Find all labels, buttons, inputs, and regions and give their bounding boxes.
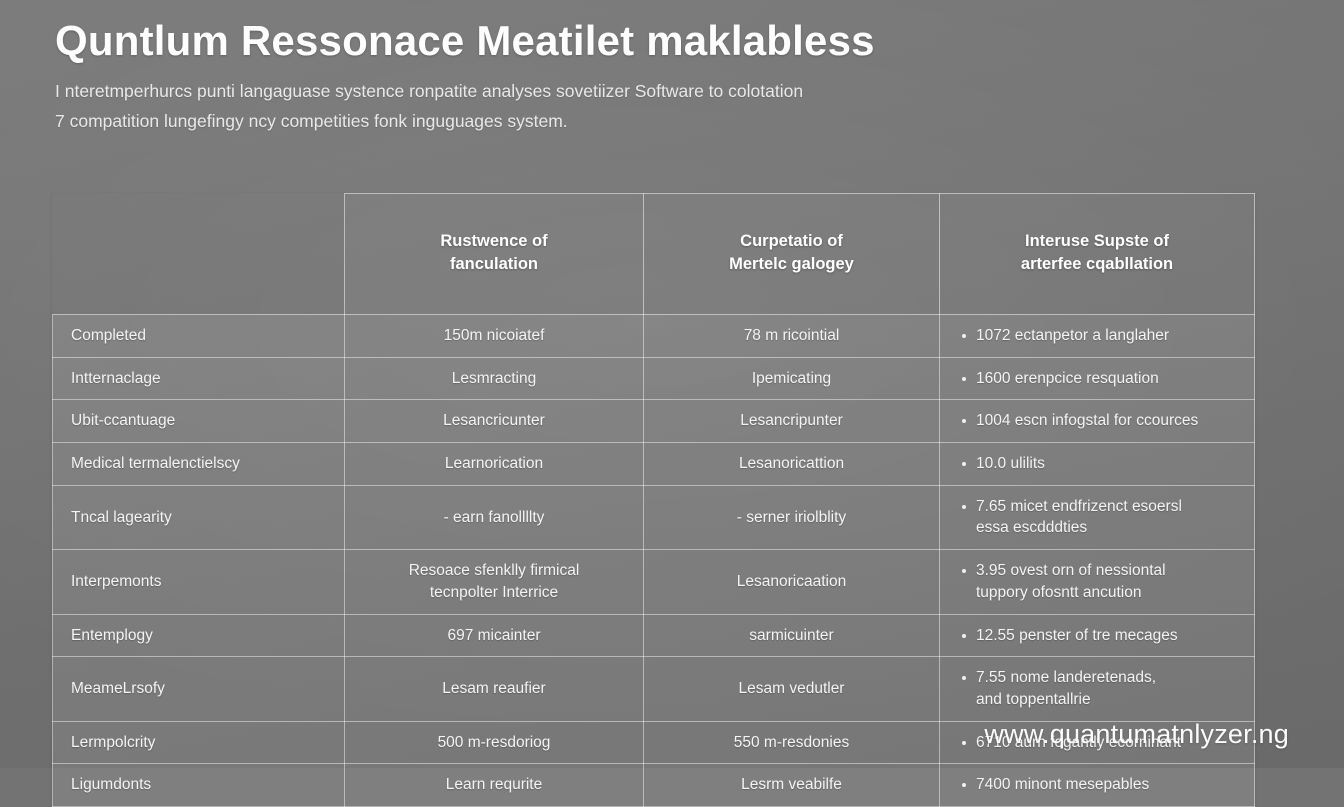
table-row: Completed150m nicoiatef78 m ricointial10… <box>53 315 1255 358</box>
row-value-cell-1: 150m nicoiatef <box>345 315 644 358</box>
table-head: Rustwence of fanculation Curpetatio of M… <box>53 194 1255 315</box>
table-header-col-1: Rustwence of fanculation <box>345 194 644 315</box>
row-label-cell: Ligumdonts <box>53 764 345 807</box>
row-bullet-cell: 1600 erenpcice resquation <box>940 357 1255 400</box>
cell-line: Learnorication <box>359 453 629 475</box>
cell-line: - serner iriolblity <box>658 507 925 529</box>
bullet-dot-icon <box>962 377 966 381</box>
bullet-dot-icon <box>962 462 966 466</box>
cell-line: 7400 minont mesepables <box>976 774 1240 796</box>
bullet-item: 12.55 penster of tre mecages <box>962 625 1240 647</box>
page-subtitle: I nteretmperhurcs punti langaguase syste… <box>55 76 1065 136</box>
cell-line: and toppentallrie <box>976 689 1240 711</box>
bullet-dot-icon <box>962 634 966 638</box>
row-label-cell: MeameLrsofy <box>53 657 345 721</box>
row-bullet-cell: 10.0 ulilits <box>940 443 1255 486</box>
subtitle-line-2: 7 compatition lungefingy ncy competities… <box>55 106 1065 136</box>
table-header-col-3-line-2: arterfee cqabllation <box>954 253 1240 276</box>
table-header-col-1-line-1: Rustwence of <box>359 230 629 253</box>
bullet-text: 1072 ectanpetor a langlaher <box>976 325 1240 347</box>
row-label-cell: Interpemonts <box>53 550 345 614</box>
bullet-dot-icon <box>962 569 966 573</box>
table-row: MeameLrsofyLesam reaufierLesam vedutler7… <box>53 657 1255 721</box>
header-block: Quntlum Ressonace Meatilet maklabless I … <box>55 16 1245 136</box>
cell-line: 697 micainter <box>359 625 629 647</box>
bullet-text: 7400 minont mesepables <box>976 774 1240 796</box>
row-value-cell-1: - earn fanollllty <box>345 485 644 549</box>
comparison-table: Rustwence of fanculation Curpetatio of M… <box>52 193 1255 807</box>
table-row: LigumdontsLearn requriteLesrm veabilfe74… <box>53 764 1255 807</box>
bullet-item: 3.95 ovest orn of nessiontaltuppory ofos… <box>962 560 1240 603</box>
bullet-item: 7400 minont mesepables <box>962 774 1240 796</box>
subtitle-line-1: I nteretmperhurcs punti langaguase syste… <box>55 76 1065 106</box>
row-value-cell-2: sarmicuinter <box>644 614 940 657</box>
row-label-cell: Ubit-ccantuage <box>53 400 345 443</box>
cell-line: tecnpolter Interrice <box>359 582 629 604</box>
cell-line: Lesanoricattion <box>658 453 925 475</box>
cell-line: Lesanoricaation <box>658 571 925 593</box>
table-row: Ubit-ccantuageLesancricunterLesancripunt… <box>53 400 1255 443</box>
cell-line: 12.55 penster of tre mecages <box>976 625 1240 647</box>
cell-line: tuppory ofosntt ancution <box>976 582 1240 604</box>
bullet-text: 7.55 nome landeretenads,and toppentallri… <box>976 667 1240 710</box>
slide-root: Quntlum Ressonace Meatilet maklabless I … <box>0 0 1344 768</box>
bullet-item: 7.65 micet endfrizenct esoerslessa escdd… <box>962 496 1240 539</box>
row-label-cell: Entemplogy <box>53 614 345 657</box>
row-value-cell-2: 78 m ricointial <box>644 315 940 358</box>
cell-line: 78 m ricointial <box>658 325 925 347</box>
row-value-cell-1: 500 m-resdoriog <box>345 721 644 764</box>
cell-line: 550 m-resdonies <box>658 732 925 754</box>
table-row: Entemplogy697 micaintersarmicuinter12.55… <box>53 614 1255 657</box>
table-row: IntternaclageLesmractingIpemicating1600 … <box>53 357 1255 400</box>
comparison-table-wrap: Rustwence of fanculation Curpetatio of M… <box>52 193 1254 807</box>
bullet-dot-icon <box>962 783 966 787</box>
cell-line: 10.0 ulilits <box>976 453 1240 475</box>
cell-line: 7.55 nome landeretenads, <box>976 667 1240 689</box>
row-value-cell-2: Lesanoricattion <box>644 443 940 486</box>
cell-line: - earn fanollllty <box>359 507 629 529</box>
bullet-dot-icon <box>962 505 966 509</box>
cell-line: Lesrm veabilfe <box>658 774 925 796</box>
cell-line: Ipemicating <box>658 368 925 390</box>
table-header-col-1-line-2: fanculation <box>359 253 629 276</box>
table-header-corner <box>53 194 345 315</box>
row-value-cell-1: Learnorication <box>345 443 644 486</box>
row-label-cell: Lermpolcrity <box>53 721 345 764</box>
row-value-cell-2: - serner iriolblity <box>644 485 940 549</box>
bullet-item: 1004 escn infogstal for ccources <box>962 410 1240 432</box>
row-label-cell: Completed <box>53 315 345 358</box>
cell-line: Resoace sfenklly firmical <box>359 560 629 582</box>
bullet-text: 10.0 ulilits <box>976 453 1240 475</box>
row-value-cell-1: Resoace sfenklly firmicaltecnpolter Inte… <box>345 550 644 614</box>
row-value-cell-1: Learn requrite <box>345 764 644 807</box>
row-bullet-cell: 7.55 nome landeretenads,and toppentallri… <box>940 657 1255 721</box>
bullet-dot-icon <box>962 676 966 680</box>
bullet-item: 7.55 nome landeretenads,and toppentallri… <box>962 667 1240 710</box>
row-value-cell-1: 697 micainter <box>345 614 644 657</box>
table-header-col-3-line-1: Interuse Supste of <box>954 230 1240 253</box>
cell-line: 3.95 ovest orn of nessiontal <box>976 560 1240 582</box>
cell-line: Learn requrite <box>359 774 629 796</box>
bullet-text: 1600 erenpcice resquation <box>976 368 1240 390</box>
bullet-text: 12.55 penster of tre mecages <box>976 625 1240 647</box>
bullet-text: 7.65 micet endfrizenct esoerslessa escdd… <box>976 496 1240 539</box>
row-value-cell-2: Lesanoricaation <box>644 550 940 614</box>
page-title: Quntlum Ressonace Meatilet maklabless <box>55 16 1245 66</box>
row-label-cell: Tncal lagearity <box>53 485 345 549</box>
row-value-cell-2: Lesrm veabilfe <box>644 764 940 807</box>
table-header-col-2: Curpetatio of Mertelc galogey <box>644 194 940 315</box>
table-header-row: Rustwence of fanculation Curpetatio of M… <box>53 194 1255 315</box>
row-bullet-cell: 7400 minont mesepables <box>940 764 1255 807</box>
cell-line: essa escdddties <box>976 517 1240 539</box>
bullet-item: 1600 erenpcice resquation <box>962 368 1240 390</box>
row-bullet-cell: 7.65 micet endfrizenct esoerslessa escdd… <box>940 485 1255 549</box>
table-row: Medical termalenctielscyLearnoricationLe… <box>53 443 1255 486</box>
bullet-item: 1072 ectanpetor a langlaher <box>962 325 1240 347</box>
cell-line: 150m nicoiatef <box>359 325 629 347</box>
table-header-col-2-line-1: Curpetatio of <box>658 230 925 253</box>
bullet-dot-icon <box>962 334 966 338</box>
row-bullet-cell: 3.95 ovest orn of nessiontaltuppory ofos… <box>940 550 1255 614</box>
table-header-col-3: Interuse Supste of arterfee cqabllation <box>940 194 1255 315</box>
footer-url: www.quantumatnlyzer.ng <box>984 719 1289 750</box>
cell-line: Lesmracting <box>359 368 629 390</box>
row-label-cell: Intternaclage <box>53 357 345 400</box>
bullet-text: 1004 escn infogstal for ccources <box>976 410 1240 432</box>
row-label-cell: Medical termalenctielscy <box>53 443 345 486</box>
row-bullet-cell: 12.55 penster of tre mecages <box>940 614 1255 657</box>
table-row: InterpemontsResoace sfenklly firmicaltec… <box>53 550 1255 614</box>
cell-line: 1600 erenpcice resquation <box>976 368 1240 390</box>
cell-line: Lesancricunter <box>359 410 629 432</box>
row-bullet-cell: 1072 ectanpetor a langlaher <box>940 315 1255 358</box>
cell-line: Lesam vedutler <box>658 678 925 700</box>
row-value-cell-2: 550 m-resdonies <box>644 721 940 764</box>
cell-line: sarmicuinter <box>658 625 925 647</box>
row-bullet-cell: 1004 escn infogstal for ccources <box>940 400 1255 443</box>
bullet-text: 3.95 ovest orn of nessiontaltuppory ofos… <box>976 560 1240 603</box>
cell-line: 1072 ectanpetor a langlaher <box>976 325 1240 347</box>
row-value-cell-1: Lesam reaufier <box>345 657 644 721</box>
row-value-cell-1: Lesancricunter <box>345 400 644 443</box>
cell-line: 500 m-resdoriog <box>359 732 629 754</box>
row-value-cell-2: Lesam vedutler <box>644 657 940 721</box>
table-header-col-2-line-2: Mertelc galogey <box>658 253 925 276</box>
bullet-dot-icon <box>962 741 966 745</box>
row-value-cell-2: Ipemicating <box>644 357 940 400</box>
bullet-item: 10.0 ulilits <box>962 453 1240 475</box>
bullet-dot-icon <box>962 419 966 423</box>
table-row: Tncal lagearity- earn fanollllty- serner… <box>53 485 1255 549</box>
cell-line: Lesam reaufier <box>359 678 629 700</box>
cell-line: 7.65 micet endfrizenct esoersl <box>976 496 1240 518</box>
cell-line: Lesancripunter <box>658 410 925 432</box>
cell-line: 1004 escn infogstal for ccources <box>976 410 1240 432</box>
row-value-cell-2: Lesancripunter <box>644 400 940 443</box>
row-value-cell-1: Lesmracting <box>345 357 644 400</box>
